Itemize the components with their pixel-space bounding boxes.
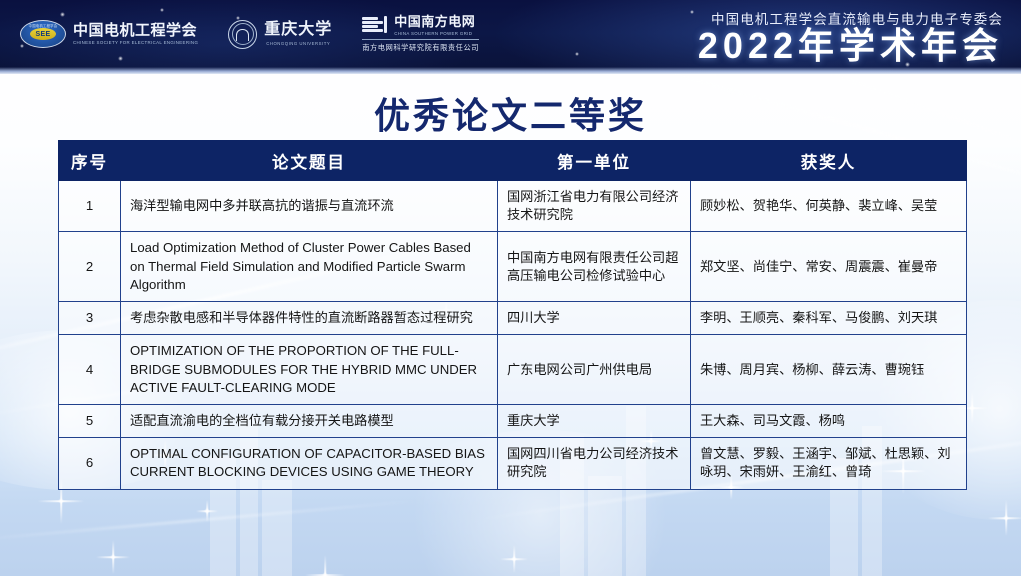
city-silhouette [262, 480, 292, 576]
cell-org: 国网浙江省电力有限公司经济技术研究院 [498, 181, 691, 232]
csee-name-en: CHINESE SOCIETY FOR ELECTRICAL ENGINEERI… [73, 40, 198, 45]
csee-name-zh: 中国电机工程学会 [73, 23, 198, 39]
sparkle-icon [500, 545, 528, 573]
cell-no: 4 [59, 335, 121, 405]
table-row: 3 考虑杂散电感和半导体器件特性的直流断路器暂态过程研究 四川大学 李明、王顺亮… [59, 302, 967, 335]
logo-csee: 中国电机工程学会 SEE 中国电机工程学会 CHINESE SOCIETY FO… [20, 20, 198, 48]
cqu-name-zh: 重庆大学 [264, 22, 332, 38]
conference-title-block: 中国电机工程学会直流输电与电力电子专委会 2022年学术年会 [698, 8, 1003, 65]
column-header-title: 论文题目 [121, 141, 498, 181]
cell-org: 中国南方电网有限责任公司超高压输电公司检修试验中心 [498, 232, 691, 302]
cell-org: 国网四川省电力公司经济技术研究院 [498, 438, 691, 489]
column-header-no: 序号 [59, 141, 121, 181]
sparkle-icon [305, 555, 345, 576]
cell-org: 四川大学 [498, 302, 691, 335]
see-emblem-icon: 中国电机工程学会 SEE [20, 20, 66, 48]
cell-title: Load Optimization Method of Cluster Powe… [121, 232, 498, 302]
slide-root: 中国电机工程学会 SEE 中国电机工程学会 CHINESE SOCIETY FO… [0, 0, 1021, 576]
awards-table-wrapper: 序号 论文题目 第一单位 获奖人 1 海洋型输电网中多并联高抗的谐振与直流环流 … [58, 140, 966, 490]
cell-winners: 顾妙松、贺艳华、何英静、裴立峰、吴莹 [691, 181, 967, 232]
conference-year-title: 2022年学术年会 [698, 27, 1003, 65]
cell-winners: 郑文坚、尚佳宁、常安、周震震、崔曼帝 [691, 232, 967, 302]
column-header-winners: 获奖人 [691, 141, 967, 181]
cell-winners: 王大森、司马文霞、杨鸣 [691, 404, 967, 437]
logo-group: 中国电机工程学会 SEE 中国电机工程学会 CHINESE SOCIETY FO… [20, 0, 479, 68]
cell-title: OPTIMIZATION OF THE PROPORTION OF THE FU… [121, 335, 498, 405]
see-emblem-label: SEE [30, 28, 56, 40]
cell-no: 1 [59, 181, 121, 232]
cell-title: 适配直流渝电的全档位有载分接开关电路模型 [121, 404, 498, 437]
cell-winners: 朱博、周月宾、杨柳、薛云涛、曹琬钰 [691, 335, 967, 405]
table-header-row: 序号 论文题目 第一单位 获奖人 [59, 141, 967, 181]
table-row: 6 OPTIMAL CONFIGURATION OF CAPACITOR-BAS… [59, 438, 967, 489]
cell-org: 重庆大学 [498, 404, 691, 437]
see-emblem-arc-text: 中国电机工程学会 [21, 23, 65, 28]
cell-no: 5 [59, 404, 121, 437]
csg-name-en: CHINA SOUTHERN POWER GRID [394, 31, 475, 36]
city-silhouette [588, 476, 622, 576]
cell-no: 6 [59, 438, 121, 489]
csg-name-zh: 中国南方电网 [394, 15, 475, 29]
cell-title: OPTIMAL CONFIGURATION OF CAPACITOR-BASED… [121, 438, 498, 489]
logo-csg: 中国南方电网 CHINA SOUTHERN POWER GRID 南方电网科学研… [362, 15, 479, 53]
sparkle-icon [96, 540, 130, 574]
column-header-org: 第一单位 [498, 141, 691, 181]
awards-table-body: 1 海洋型输电网中多并联高抗的谐振与直流环流 国网浙江省电力有限公司经济技术研究… [59, 181, 967, 490]
cell-title: 海洋型输电网中多并联高抗的谐振与直流环流 [121, 181, 498, 232]
csg-subtitle-zh: 南方电网科学研究院有限责任公司 [362, 39, 479, 53]
page-title: 优秀论文二等奖 [0, 87, 1021, 139]
banner-star [575, 52, 579, 56]
light-ray [0, 500, 419, 542]
cqu-name-en: CHONGQING UNIVERSITY [264, 41, 332, 46]
awards-table: 序号 论文题目 第一单位 获奖人 1 海洋型输电网中多并联高抗的谐振与直流环流 … [58, 140, 967, 490]
logo-chongqing-university: 重庆大学 CHONGQING UNIVERSITY [228, 20, 332, 49]
cell-no: 2 [59, 232, 121, 302]
cell-winners: 李明、王顺亮、秦科军、马俊鹏、刘天琪 [691, 302, 967, 335]
banner-star [690, 10, 694, 14]
cell-title: 考虑杂散电感和半导体器件特性的直流断路器暂态过程研究 [121, 302, 498, 335]
table-row: 1 海洋型输电网中多并联高抗的谐振与直流环流 国网浙江省电力有限公司经济技术研究… [59, 181, 967, 232]
cqu-seal-icon [228, 20, 257, 49]
top-banner: 中国电机工程学会 SEE 中国电机工程学会 CHINESE SOCIETY FO… [0, 0, 1021, 74]
table-row: 4 OPTIMIZATION OF THE PROPORTION OF THE … [59, 335, 967, 405]
cell-org: 广东电网公司广州供电局 [498, 335, 691, 405]
csg-mark-icon [362, 15, 388, 35]
sparkle-icon [196, 500, 218, 522]
table-row: 2 Load Optimization Method of Cluster Po… [59, 232, 967, 302]
cell-winners: 曾文慧、罗毅、王涵宇、邹斌、杜思颖、刘咏玥、宋雨妍、王渝红、曾琦 [691, 438, 967, 489]
banner-bottom-fade [0, 67, 1021, 74]
sparkle-icon [988, 500, 1021, 536]
table-row: 5 适配直流渝电的全档位有载分接开关电路模型 重庆大学 王大森、司马文霞、杨鸣 [59, 404, 967, 437]
cell-no: 3 [59, 302, 121, 335]
